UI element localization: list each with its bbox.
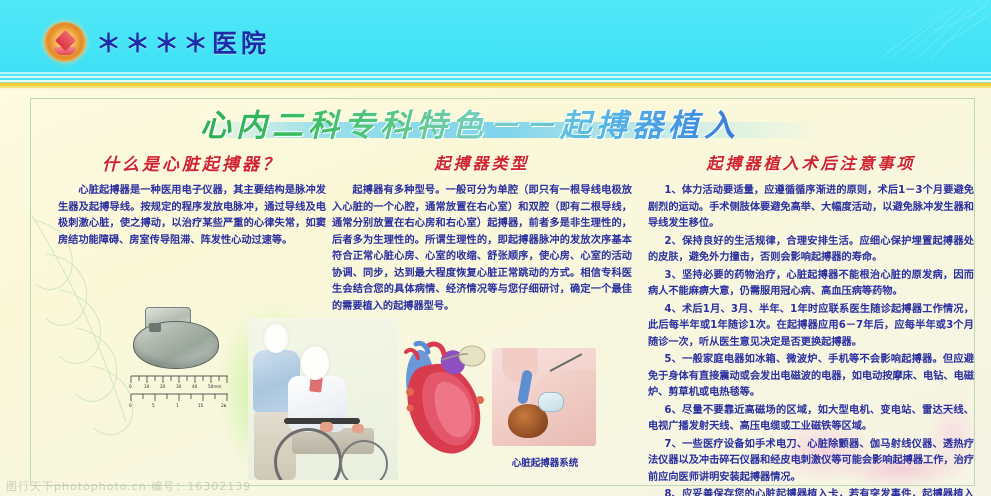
svg-text:5: 5 [152, 403, 155, 408]
header-stripe-divider [0, 72, 991, 90]
page-title: 心内二科专科特色－－起搏器植入 [200, 100, 840, 145]
column2-heading: 起搏器类型 [332, 150, 632, 174]
svg-text:1: 1 [176, 403, 179, 408]
pacemaker-can [133, 321, 219, 369]
column3-item: 2、保持良好的生活规律，合理安排生活。应细心保护埋置起搏器处的皮肤，避免外力撞击… [648, 234, 974, 267]
column3-item: 6、尽量不要靠近高磁场的区域，如大型电机、变电站、雷达天线、电视广播发射天线、高… [648, 403, 974, 436]
patient-head [301, 346, 329, 380]
column1-paragraph: 心脏起搏器是一种医用电子仪器，其主要结构是脉冲发生器及起搏导线。按规定的程序发放… [58, 183, 326, 249]
heart-anatomy-illustration [398, 340, 494, 468]
patient-in-wheelchair-photo [248, 318, 398, 480]
nurse-head [264, 324, 288, 353]
column-what-is-pacemaker: 什么是心脏起搏器？ 心脏起搏器是一种医用电子仪器，其主要结构是脉冲发生器及起搏导… [58, 150, 326, 250]
pacemaker-device-photo [125, 307, 225, 367]
svg-text:50mm: 50mm [208, 384, 222, 389]
chest-implant-illustration [492, 348, 596, 446]
chest-neck [502, 348, 538, 382]
column3-item: 7、一些医疗设备如手术电刀、心脏除颤器、伽马射线仪器、透热疗法仪器以及冲击碎石仪… [648, 437, 974, 487]
measurement-ruler: 01020 304050mm 051 152в [128, 374, 232, 408]
column-post-op-notes: 起搏器植入术后注意事项 1、体力活动要适量，应遵循循序渐进的原则，术后1－3个月… [648, 150, 974, 496]
patient-hand-right [352, 424, 364, 433]
column1-body: 心脏起搏器是一种医用电子仪器，其主要结构是脉冲发生器及起搏导线。按规定的程序发放… [58, 183, 326, 249]
column2-paragraph: 起搏器有多种型号。一般可分为单腔（即只有一根导线电极放入心脏的一个心腔，通常放置… [332, 183, 632, 315]
column3-item: 8、应妥善保存您的心脏起搏器植入卡，若有突发事件，起搏器植入卡可使医务人员了解你… [648, 487, 974, 496]
svg-text:40: 40 [192, 384, 198, 389]
svg-text:0: 0 [129, 384, 132, 389]
pacemaker-lead-port [149, 323, 161, 332]
svg-text:15: 15 [198, 403, 204, 408]
column2-body: 起搏器有多种型号。一般可分为单腔（即只有一根导线电极放入心脏的一个心腔，通常放置… [332, 183, 632, 315]
column-pacemaker-types: 起搏器类型 起搏器有多种型号。一般可分为单腔（即只有一根导线电极放入心脏的一个心… [332, 150, 632, 316]
svg-text:2в: 2в [221, 403, 227, 408]
column3-item: 3、坚持必要的药物治疗，心脏起搏器不能根治心脏的原发病，因而病人不能麻痹大意，仍… [648, 268, 974, 301]
implanted-pacemaker [538, 392, 564, 412]
column1-heading: 什么是心脏起搏器？ [58, 150, 326, 175]
svg-text:20: 20 [160, 384, 166, 389]
svg-text:10: 10 [144, 384, 150, 389]
svg-text:0: 0 [129, 403, 132, 408]
column3-item: 5、一般家庭电器如冰箱、微波炉、手机等不会影响起搏器。但应避免于身体有直接震动或… [648, 352, 974, 402]
hospital-logo-icon [44, 22, 86, 62]
column3-item: 1、体力活动要适量，应遵循循序渐进的原则，术后1－3个月要避免剧烈的运动。手术侧… [648, 183, 974, 233]
header-decorative-pattern [871, 0, 991, 60]
poster-root: ＊＊＊＊医院 心内二科专科特色－－起搏器植入 什么是心脏起搏器？ 心脏起搏器是一… [0, 0, 991, 496]
figure-caption: 心脏起搏器系统 [480, 455, 610, 469]
column3-body: 1、体力活动要适量，应遵循循序渐进的原则，术后1－3个月要避免剧烈的运动。手术侧… [648, 183, 974, 496]
pacemaker-lead-wire [550, 353, 583, 371]
stock-photo-watermark: 图行天下photophoto.cn 编号：16302139 [6, 478, 251, 494]
wheelchair-wheel-back [340, 440, 388, 480]
main-title-block: 心内二科专科特色－－起搏器植入 [200, 100, 840, 146]
hospital-name: ＊＊＊＊医院 [96, 24, 270, 60]
column3-heading: 起搏器植入术后注意事项 [648, 150, 974, 174]
column3-item: 4、术后1月、3月、半年、1年时应联系医生随诊起搏器工作情况，此后每半年或1年随… [648, 302, 974, 352]
svg-text:30: 30 [176, 384, 182, 389]
